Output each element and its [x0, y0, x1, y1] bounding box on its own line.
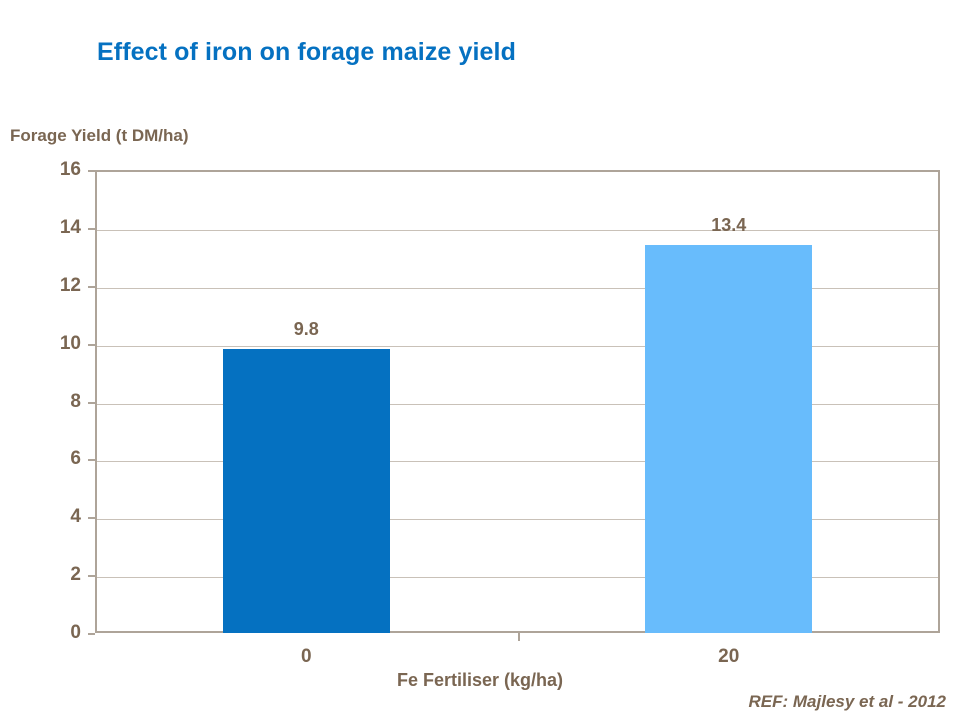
x-axis-tick-label: 20 [718, 646, 739, 668]
gridline [97, 288, 938, 289]
y-axis-tick-label: 2 [70, 564, 81, 586]
y-axis-tick-mark [88, 402, 95, 404]
chart-title: Effect of iron on forage maize yield [97, 38, 516, 67]
y-axis-tick-mark [88, 286, 95, 288]
gridline [97, 230, 938, 231]
y-axis-tick-mark [88, 575, 95, 577]
y-axis-tick-mark [88, 517, 95, 519]
plot-area [95, 170, 940, 633]
y-axis-tick-mark [88, 228, 95, 230]
y-axis-tick-mark [88, 344, 95, 346]
y-axis-tick-mark [88, 170, 95, 172]
y-axis-tick-label: 14 [60, 217, 81, 239]
y-axis-tick-label: 0 [70, 622, 81, 644]
x-axis-tick-mark [518, 633, 520, 641]
gridline [97, 577, 938, 578]
gridline [97, 346, 938, 347]
y-axis-ticks: 0246810121416 [0, 170, 95, 633]
reference-annotation: REF: Majlesy et al - 2012 [749, 692, 946, 712]
chart-container: Effect of iron on forage maize yield For… [0, 0, 960, 720]
y-axis-tick-label: 10 [60, 333, 81, 355]
y-axis-tick-label: 8 [70, 391, 81, 413]
y-axis-tick-mark [88, 633, 95, 635]
y-axis-title: Forage Yield (t DM/ha) [10, 126, 189, 146]
y-axis-tick-mark [88, 459, 95, 461]
y-axis-tick-label: 4 [70, 506, 81, 528]
gridlines [97, 172, 938, 631]
gridline [97, 519, 938, 520]
y-axis-tick-label: 6 [70, 448, 81, 470]
gridline [97, 404, 938, 405]
y-axis-tick-label: 12 [60, 275, 81, 297]
gridline [97, 461, 938, 462]
x-axis-title: Fe Fertiliser (kg/ha) [0, 670, 960, 691]
x-axis-tick-label: 0 [301, 646, 312, 668]
y-axis-tick-label: 16 [60, 159, 81, 181]
